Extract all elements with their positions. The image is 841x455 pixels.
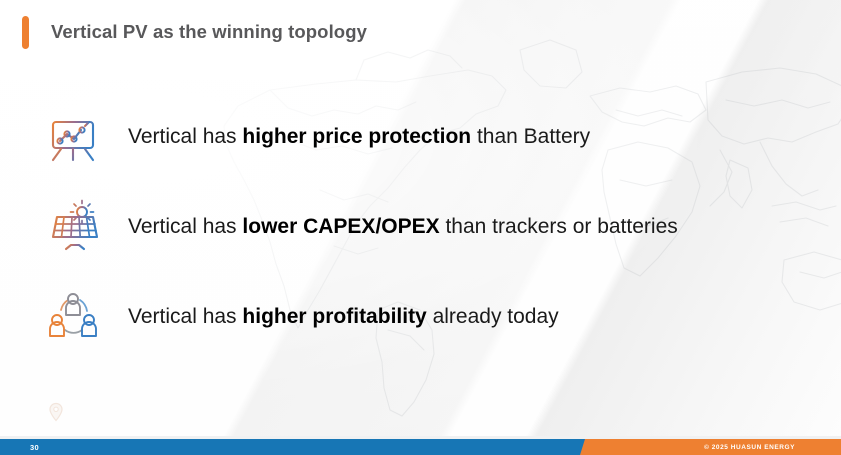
bullet-text-bold: lower CAPEX/OPEX (242, 215, 439, 238)
bullet-text: Vertical has lower CAPEX/OPEX than track… (128, 214, 678, 240)
bullet-list: Vertical has higher price protection tha… (0, 92, 841, 362)
page-title: Vertical PV as the winning topology (22, 14, 367, 50)
solar-panel-icon (44, 198, 102, 256)
title-text: Vertical PV as the winning topology (51, 21, 367, 43)
copyright-text: © 2025 HUASUN ENERGY (704, 444, 795, 451)
title-accent-bar (22, 16, 29, 49)
bullet-text-before: Vertical has (128, 125, 242, 148)
bullet-text-after: than Battery (471, 125, 590, 148)
chart-easel-icon (44, 108, 102, 166)
bullet-text-before: Vertical has (128, 215, 242, 238)
bullet-text-bold: higher profitability (242, 305, 426, 328)
list-item: Vertical has higher price protection tha… (0, 92, 841, 182)
bullet-text-before: Vertical has (128, 305, 242, 328)
page-number: 30 (30, 443, 39, 452)
list-item: Vertical has lower CAPEX/OPEX than track… (0, 182, 841, 272)
location-pin-icon (48, 402, 64, 422)
bullet-text: Vertical has higher profitability alread… (128, 304, 559, 330)
slide: Vertical PV as the winning topology (0, 0, 841, 455)
bullet-text-after: than trackers or batteries (440, 215, 678, 238)
bullet-text-after: already today (427, 305, 559, 328)
list-item: Vertical has higher profitability alread… (0, 272, 841, 362)
bullet-text: Vertical has higher price protection tha… (128, 124, 590, 150)
people-network-icon (44, 288, 102, 346)
footer-left-section: 30 (0, 439, 580, 455)
footer-bar: 30 © 2025 HUASUN ENERGY (0, 439, 841, 455)
footer-right-section: © 2025 HUASUN ENERGY (580, 439, 841, 455)
bullet-text-bold: higher price protection (242, 125, 471, 148)
